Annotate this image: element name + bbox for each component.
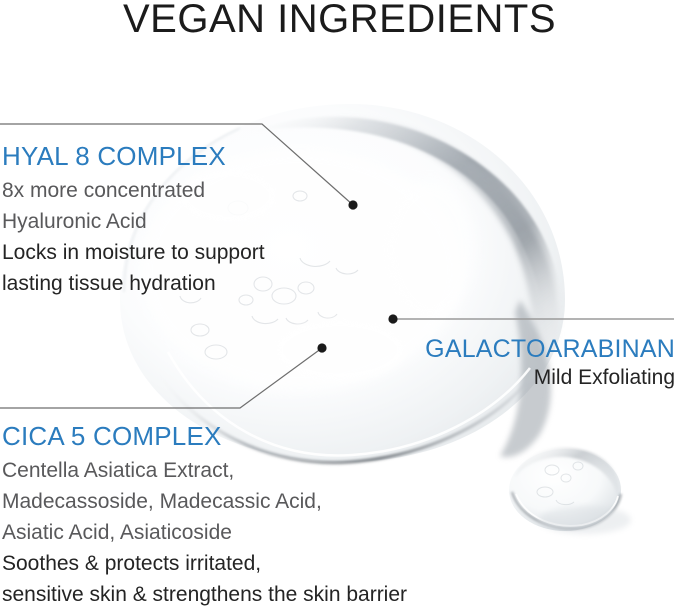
callout-heading-galactoarabinan: GALACTOARABINAN [425, 334, 675, 364]
page-title: VEGAN INGREDIENTS [0, 0, 679, 42]
callout-heading-hyal-8-complex: HYAL 8 COMPLEX [2, 141, 265, 171]
callout-hyal-8-complex: HYAL 8 COMPLEX 8x more concentrated Hyal… [2, 141, 265, 299]
callout-line: Madecassoside, Madecassic Acid, [2, 486, 407, 517]
callout-line: Centella Asiatica Extract, [2, 455, 407, 486]
callout-galactoarabinan: GALACTOARABINAN Mild Exfoliating [425, 334, 675, 392]
callout-heading-cica-5-complex: CICA 5 COMPLEX [2, 421, 407, 451]
callout-cica-5-complex: CICA 5 COMPLEX Centella Asiatica Extract… [2, 421, 407, 610]
callout-line: Hyaluronic Acid [2, 206, 265, 237]
callout-line: Mild Exfoliating [425, 364, 675, 392]
callout-line: sensitive skin & strengthens the skin ba… [2, 579, 407, 610]
vegan-ingredients-infographic: VEGAN INGREDIENTS HYAL 8 COMPLEX 8x more… [0, 0, 679, 616]
callout-line: Locks in moisture to support [2, 237, 265, 268]
callout-line: 8x more concentrated [2, 175, 265, 206]
callout-line: Soothes & protects irritated, [2, 548, 407, 579]
callout-line: Asiatic Acid, Asiaticoside [2, 517, 407, 548]
callout-line: lasting tissue hydration [2, 268, 265, 299]
